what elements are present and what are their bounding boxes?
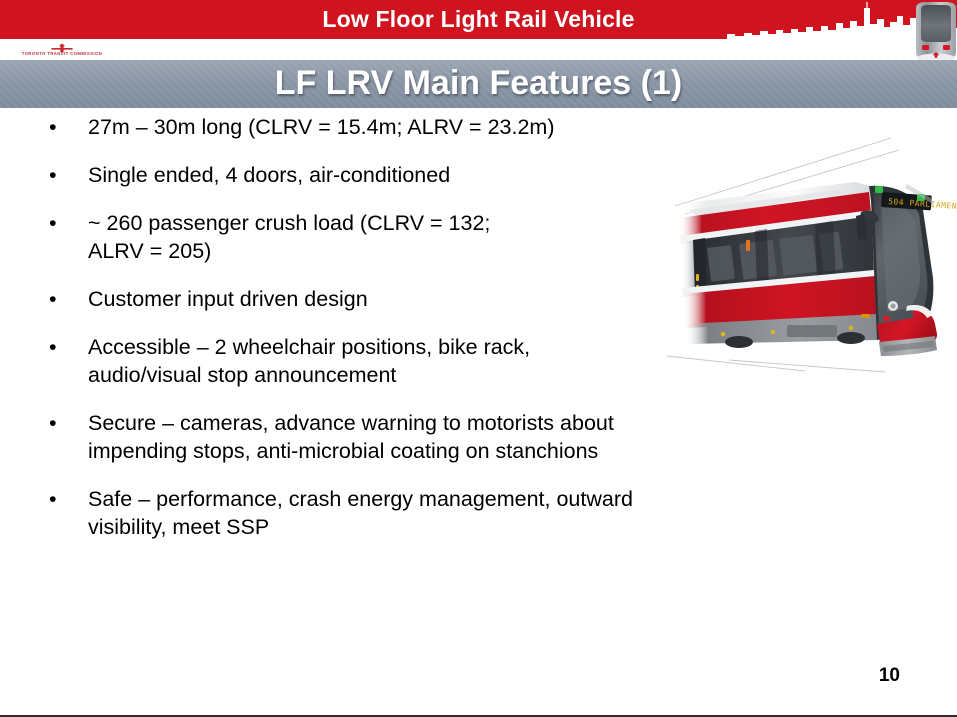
section-title-band: LF LRV Main Features (1) [0, 60, 957, 108]
bullet-marker-icon: • [49, 285, 63, 313]
list-item-text: Accessible – 2 wheelchair positions, bik… [88, 333, 780, 389]
bullet-marker-icon: • [49, 113, 63, 141]
destination-sign-text: 504 PARLIAMENT [888, 197, 957, 211]
list-item-text: Safe – performance, crash energy managem… [88, 485, 780, 541]
list-item: • Accessible – 2 wheelchair positions, b… [40, 333, 780, 389]
bullet-marker-icon: • [49, 209, 63, 237]
slide: Low Floor Light Rail Vehicle [0, 0, 957, 717]
bullet-list: • 27m – 30m long (CLRV = 15.4m; ALRV = 2… [40, 113, 780, 561]
bullet-marker-icon: • [49, 485, 63, 513]
top-banner: Low Floor Light Rail Vehicle [0, 0, 957, 39]
ttc-emblem-icon [50, 40, 74, 50]
list-item-text: Secure – cameras, advance warning to mot… [88, 409, 780, 465]
bullet-marker-icon: • [49, 161, 63, 189]
page-number: 10 [879, 665, 900, 687]
list-item-text: 27m – 30m long (CLRV = 15.4m; ALRV = 23.… [88, 113, 780, 141]
list-item-text: ~ 260 passenger crush load (CLRV = 132; … [88, 209, 780, 265]
bullet-marker-icon: • [49, 409, 63, 437]
page-title: LF LRV Main Features (1) [0, 60, 957, 108]
banner-title: Low Floor Light Rail Vehicle [0, 0, 957, 39]
list-item-text: Customer input driven design [88, 285, 780, 313]
list-item: • 27m – 30m long (CLRV = 15.4m; ALRV = 2… [40, 113, 780, 141]
list-item: • ~ 260 passenger crush load (CLRV = 132… [40, 209, 780, 265]
ttc-wordmark: TORONTO TRANSIT COMMISSION [14, 51, 110, 57]
list-item: • Safe – performance, crash energy manag… [40, 485, 780, 541]
list-item-text: Single ended, 4 doors, air-conditioned [88, 161, 780, 189]
bullet-marker-icon: • [49, 333, 63, 361]
list-item: • Customer input driven design [40, 285, 780, 313]
list-item: • Secure – cameras, advance warning to m… [40, 409, 780, 465]
ttc-logo: TORONTO TRANSIT COMMISSION [14, 40, 110, 60]
list-item: • Single ended, 4 doors, air-conditioned [40, 161, 780, 189]
